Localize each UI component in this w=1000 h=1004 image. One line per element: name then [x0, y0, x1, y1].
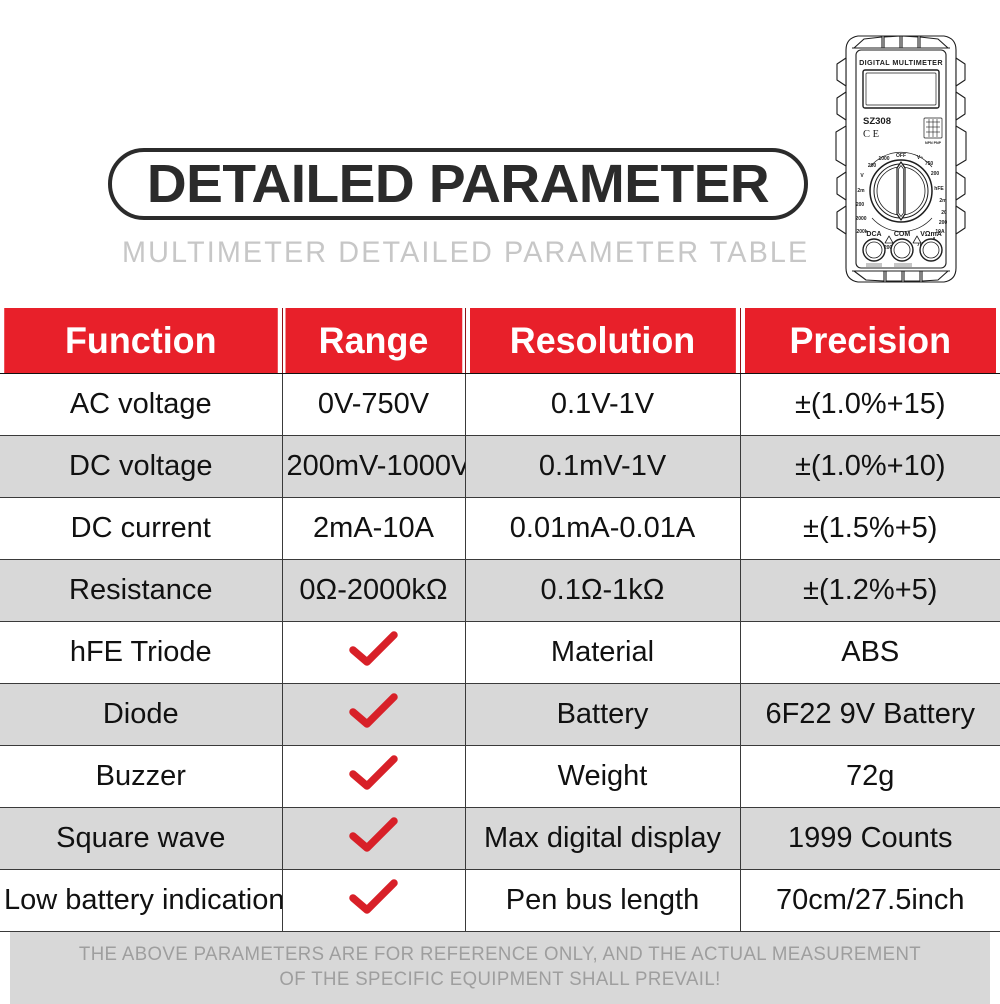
cell-range-check [282, 684, 465, 746]
cell-range: 0Ω-2000kΩ [282, 560, 465, 622]
cell-function: hFE Triode [0, 622, 282, 684]
cell-resolution: Weight [465, 746, 740, 808]
cell-range: 2mA-10A [282, 498, 465, 560]
svg-text:200: 200 [856, 202, 865, 208]
svg-text:C E: C E [863, 129, 879, 140]
svg-text:hFE: hFE [934, 186, 944, 192]
table-row: DiodeBattery6F22 9V Battery [0, 684, 1000, 746]
column-header-function: Function [4, 308, 278, 374]
disclaimer-line-1: THE ABOVE PARAMETERS ARE FOR REFERENCE O… [69, 942, 931, 967]
svg-text:COM: COM [894, 231, 911, 238]
cell-function: Low battery indication [0, 870, 282, 932]
table-header-row: Function Range Resolution Precision [0, 308, 1000, 374]
table-row: Low battery indicationPen bus length70cm… [0, 870, 1000, 932]
parameter-table: Function Range Resolution Precision AC v… [0, 308, 1000, 932]
column-header-precision: Precision [744, 308, 996, 374]
cell-resolution: 0.1V-1V [465, 374, 740, 436]
table-row: Square waveMax digital display1999 Count… [0, 808, 1000, 870]
column-header-resolution: Resolution [469, 308, 736, 374]
table-row: AC voltage0V-750V0.1V-1V±(1.0%+15) [0, 374, 1000, 436]
cell-precision: ±(1.2%+5) [740, 560, 1000, 622]
cell-resolution: Material [465, 622, 740, 684]
cell-range-check [282, 870, 465, 932]
cell-function: Resistance [0, 560, 282, 622]
check-icon [348, 692, 400, 730]
check-icon [348, 878, 400, 916]
disclaimer-line-2: OF THE SPECIFIC EQUIPMENT SHALL PREVAIL! [69, 967, 931, 992]
title-pill-badge: DETAILED PARAMETER [108, 148, 808, 220]
cell-precision: 72g [740, 746, 1000, 808]
table-row: DC current2mA-10A0.01mA-0.01A±(1.5%+5) [0, 498, 1000, 560]
table-row: BuzzerWeight72g [0, 746, 1000, 808]
cell-range: 0V-750V [282, 374, 465, 436]
table-body: AC voltage0V-750V0.1V-1V±(1.0%+15)DC vol… [0, 374, 1000, 932]
svg-text:SZ308: SZ308 [863, 116, 891, 127]
cell-function: AC voltage [0, 374, 282, 436]
cell-function: Square wave [0, 808, 282, 870]
cell-resolution: 0.1mV-1V [465, 436, 740, 498]
svg-text:DIGITAL MULTIMETER: DIGITAL MULTIMETER [859, 58, 943, 67]
svg-text:OFF: OFF [896, 153, 906, 159]
svg-text:200: 200 [931, 171, 940, 177]
cell-resolution: 0.1Ω-1kΩ [465, 560, 740, 622]
cell-precision: ±(1.0%+15) [740, 374, 1000, 436]
cell-precision: ABS [740, 622, 1000, 684]
svg-text:2000: 2000 [855, 216, 866, 222]
cell-range-check [282, 808, 465, 870]
svg-text:NPN PNP: NPN PNP [925, 141, 942, 145]
svg-text:200: 200 [868, 163, 877, 169]
disclaimer-note: THE ABOVE PARAMETERS ARE FOR REFERENCE O… [10, 932, 990, 1004]
cell-resolution: Max digital display [465, 808, 740, 870]
cell-resolution: Pen bus length [465, 870, 740, 932]
cell-precision: 70cm/27.5inch [740, 870, 1000, 932]
svg-text:20: 20 [941, 210, 947, 216]
svg-text:DCA: DCA [866, 231, 881, 238]
svg-text:2m: 2m [857, 188, 865, 194]
cell-resolution: 0.01mA-0.01A [465, 498, 740, 560]
check-icon [348, 816, 400, 854]
digital-multimeter-icon: DIGITAL MULTIMETER SZ308 C E NPN PNP [832, 28, 970, 290]
table-row: Resistance0Ω-2000kΩ0.1Ω-1kΩ±(1.2%+5) [0, 560, 1000, 622]
check-icon [348, 754, 400, 792]
column-header-range: Range [285, 308, 463, 374]
cell-function: DC voltage [0, 436, 282, 498]
cell-precision: 6F22 9V Battery [740, 684, 1000, 746]
svg-text:2m: 2m [939, 198, 947, 204]
cell-function: Buzzer [0, 746, 282, 808]
svg-text:VΩmA: VΩmA [920, 231, 942, 238]
cell-range: 200mV-1000V [282, 436, 465, 498]
cell-function: Diode [0, 684, 282, 746]
cell-range-check [282, 746, 465, 808]
cell-range-check [282, 622, 465, 684]
cell-function: DC current [0, 498, 282, 560]
cell-precision: ±(1.0%+10) [740, 436, 1000, 498]
svg-text:200: 200 [939, 220, 948, 226]
page-header: DETAILED PARAMETER MULTIMETER DETAILED P… [0, 0, 1000, 308]
cell-resolution: Battery [465, 684, 740, 746]
check-icon [348, 630, 400, 668]
cell-precision: ±(1.5%+5) [740, 498, 1000, 560]
page-title: DETAILED PARAMETER [147, 157, 769, 211]
cell-precision: 1999 Counts [740, 808, 1000, 870]
svg-text:1000: 1000 [878, 156, 889, 162]
page-subtitle: MULTIMETER DETAILED PARAMETER TABLE [122, 238, 794, 268]
table-row: hFE TriodeMaterialABS [0, 622, 1000, 684]
table-row: DC voltage200mV-1000V0.1mV-1V±(1.0%+10) [0, 436, 1000, 498]
